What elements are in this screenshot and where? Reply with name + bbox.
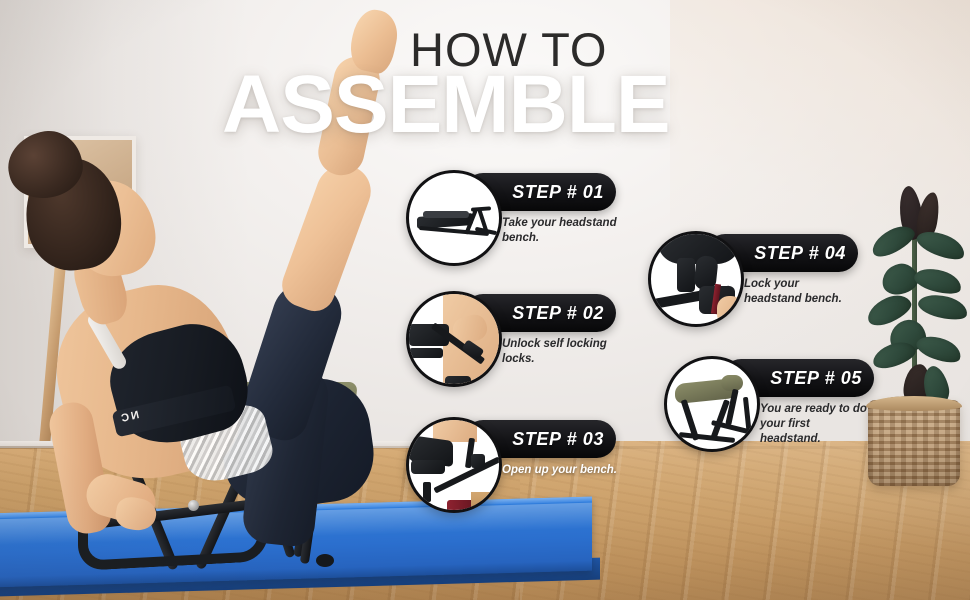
plant-leaf [912, 264, 964, 298]
plant-leaf [916, 290, 970, 323]
step-card-05[interactable]: STEP # 05 You are ready to do your first… [664, 356, 874, 460]
step-thumbnail-01 [406, 170, 502, 266]
step-caption-01: Take your headstand bench. [502, 216, 620, 246]
hand-locking-bench-photo [651, 234, 741, 324]
hand-unlocking-lock-photo [409, 294, 499, 384]
page-title: HOW TO ASSEMBLE [0, 0, 970, 160]
apparel-brand-text: NC [118, 409, 140, 425]
step-card-03[interactable]: STEP # 03 Open up your bench. [406, 417, 616, 521]
opening-bench-photo [409, 420, 499, 510]
wicker-basket [868, 400, 960, 486]
basket-rim [866, 396, 962, 411]
step-caption-05: You are ready to do your first headstand… [760, 402, 872, 448]
step-badge-label: STEP # 02 [512, 303, 604, 324]
step-thumbnail-04 [648, 231, 744, 327]
step-thumbnail-05 [664, 356, 760, 452]
folded-bench-photo [409, 173, 499, 263]
headline-line-2: ASSEMBLE [222, 58, 670, 152]
step-badge-label: STEP # 01 [512, 182, 604, 203]
step-card-01[interactable]: STEP # 01 Take your headstand bench. [406, 170, 616, 274]
step-thumbnail-03 [406, 417, 502, 513]
step-caption-03: Open up your bench. [502, 463, 620, 478]
step-caption-02: Unlock self locking locks. [502, 337, 620, 367]
woman-doing-headstand-prep: NC [0, 110, 360, 540]
step-thumbnail-02 [406, 291, 502, 387]
how-to-assemble-infographic: NC HOW TO ASSEMBLE STEP # 01 Take your h [0, 0, 970, 600]
step-card-02[interactable]: STEP # 02 Unlock self locking locks. [406, 291, 616, 395]
step-card-04[interactable]: STEP # 04 Lock your headstand bench. [648, 231, 858, 335]
step-badge-label: STEP # 03 [512, 429, 604, 450]
assembled-bench-photo [667, 359, 757, 449]
step-badge-label: STEP # 04 [754, 243, 846, 264]
bench-foot-tip [316, 554, 334, 567]
step-badge-label: STEP # 05 [770, 368, 862, 389]
step-caption-04: Lock your headstand bench. [744, 277, 856, 307]
